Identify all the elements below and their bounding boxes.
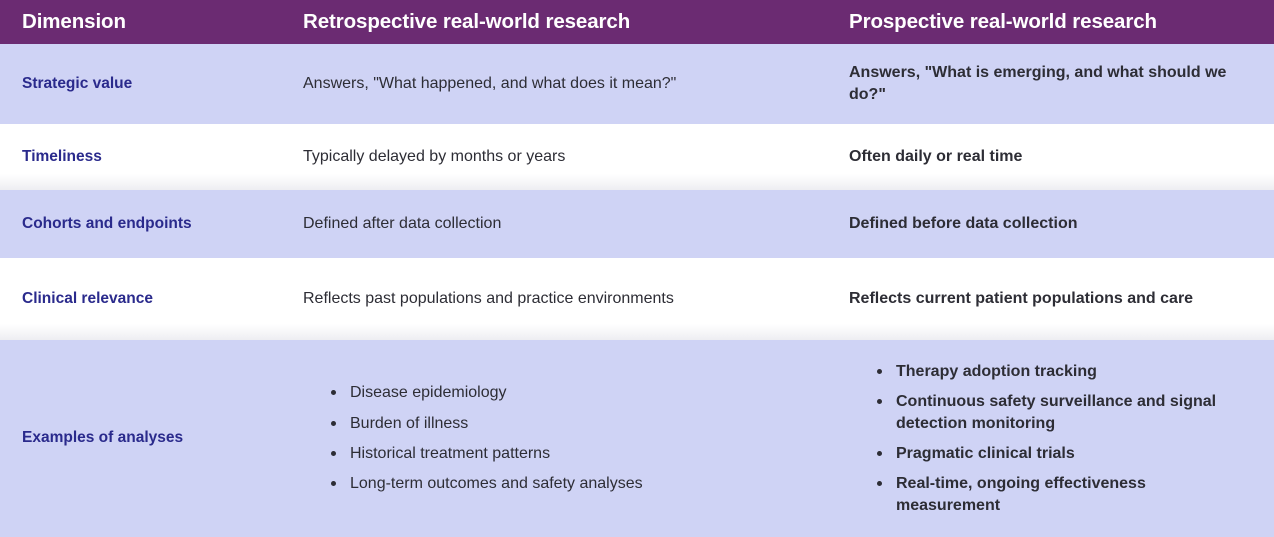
row-label-clinical-relevance: Clinical relevance bbox=[0, 289, 303, 309]
list-item: Real-time, ongoing effectiveness measure… bbox=[875, 473, 1250, 516]
list-item-label: Disease epidemiology bbox=[350, 384, 507, 401]
list-item: Disease epidemiology bbox=[329, 382, 825, 403]
table-row: Cohorts and endpoints Defined after data… bbox=[0, 190, 1274, 258]
table-row: Strategic value Answers, "What happened,… bbox=[0, 44, 1274, 124]
table-row: Timeliness Typically delayed by months o… bbox=[0, 124, 1274, 190]
row-label-examples-of-analyses: Examples of analyses bbox=[0, 428, 303, 448]
bullet-icon bbox=[331, 451, 336, 456]
bullet-icon bbox=[877, 451, 882, 456]
cell-retrospective-clinical-relevance: Reflects past populations and practice e… bbox=[303, 288, 849, 310]
list-item-label: Long-term outcomes and safety analyses bbox=[350, 475, 643, 492]
list-item: Therapy adoption tracking bbox=[875, 361, 1250, 382]
list-item: Continuous safety surveillance and signa… bbox=[875, 391, 1250, 434]
list-item-label: Real-time, ongoing effectiveness measure… bbox=[896, 475, 1146, 513]
bullet-icon bbox=[331, 421, 336, 426]
list-item-label: Continuous safety surveillance and signa… bbox=[896, 393, 1216, 431]
cell-prospective-cohorts-and-endpoints: Defined before data collection bbox=[849, 213, 1274, 235]
column-header-retrospective: Retrospective real-world research bbox=[303, 10, 849, 34]
bullet-icon bbox=[331, 390, 336, 395]
cell-prospective-timeliness: Often daily or real time bbox=[849, 146, 1274, 168]
list-item-label: Pragmatic clinical trials bbox=[896, 445, 1075, 462]
list-item: Historical treatment patterns bbox=[329, 443, 825, 464]
row-label-timeliness: Timeliness bbox=[0, 147, 303, 167]
bullet-icon bbox=[877, 399, 882, 404]
cell-prospective-clinical-relevance: Reflects current patient populations and… bbox=[849, 288, 1274, 310]
bullet-icon bbox=[877, 481, 882, 486]
list-item: Burden of illness bbox=[329, 413, 825, 434]
prospective-bullet-list: Therapy adoption tracking Continuous saf… bbox=[849, 361, 1274, 516]
row-label-cohorts-and-endpoints: Cohorts and endpoints bbox=[0, 214, 303, 234]
list-item-label: Historical treatment patterns bbox=[350, 445, 550, 462]
table-row: Examples of analyses Disease epidemiolog… bbox=[0, 340, 1274, 537]
cell-retrospective-examples-of-analyses: Disease epidemiology Burden of illness H… bbox=[303, 382, 849, 494]
column-header-prospective: Prospective real-world research bbox=[849, 10, 1274, 34]
table-row: Clinical relevance Reflects past populat… bbox=[0, 258, 1274, 340]
list-item-label: Burden of illness bbox=[350, 415, 468, 432]
list-item: Pragmatic clinical trials bbox=[875, 443, 1250, 464]
cell-retrospective-timeliness: Typically delayed by months or years bbox=[303, 146, 849, 168]
table-header-row: Dimension Retrospective real-world resea… bbox=[0, 0, 1274, 44]
bullet-icon bbox=[877, 369, 882, 374]
cell-retrospective-cohorts-and-endpoints: Defined after data collection bbox=[303, 213, 849, 235]
cell-retrospective-strategic-value: Answers, "What happened, and what does i… bbox=[303, 73, 849, 95]
column-header-dimension: Dimension bbox=[0, 10, 303, 34]
bullet-icon bbox=[331, 481, 336, 486]
comparison-table: Dimension Retrospective real-world resea… bbox=[0, 0, 1274, 537]
cell-prospective-strategic-value: Answers, "What is emerging, and what sho… bbox=[849, 62, 1274, 105]
list-item-label: Therapy adoption tracking bbox=[896, 363, 1097, 380]
retrospective-bullet-list: Disease epidemiology Burden of illness H… bbox=[303, 382, 849, 494]
row-label-strategic-value: Strategic value bbox=[0, 74, 303, 94]
cell-prospective-examples-of-analyses: Therapy adoption tracking Continuous saf… bbox=[849, 361, 1274, 516]
list-item: Long-term outcomes and safety analyses bbox=[329, 473, 825, 494]
